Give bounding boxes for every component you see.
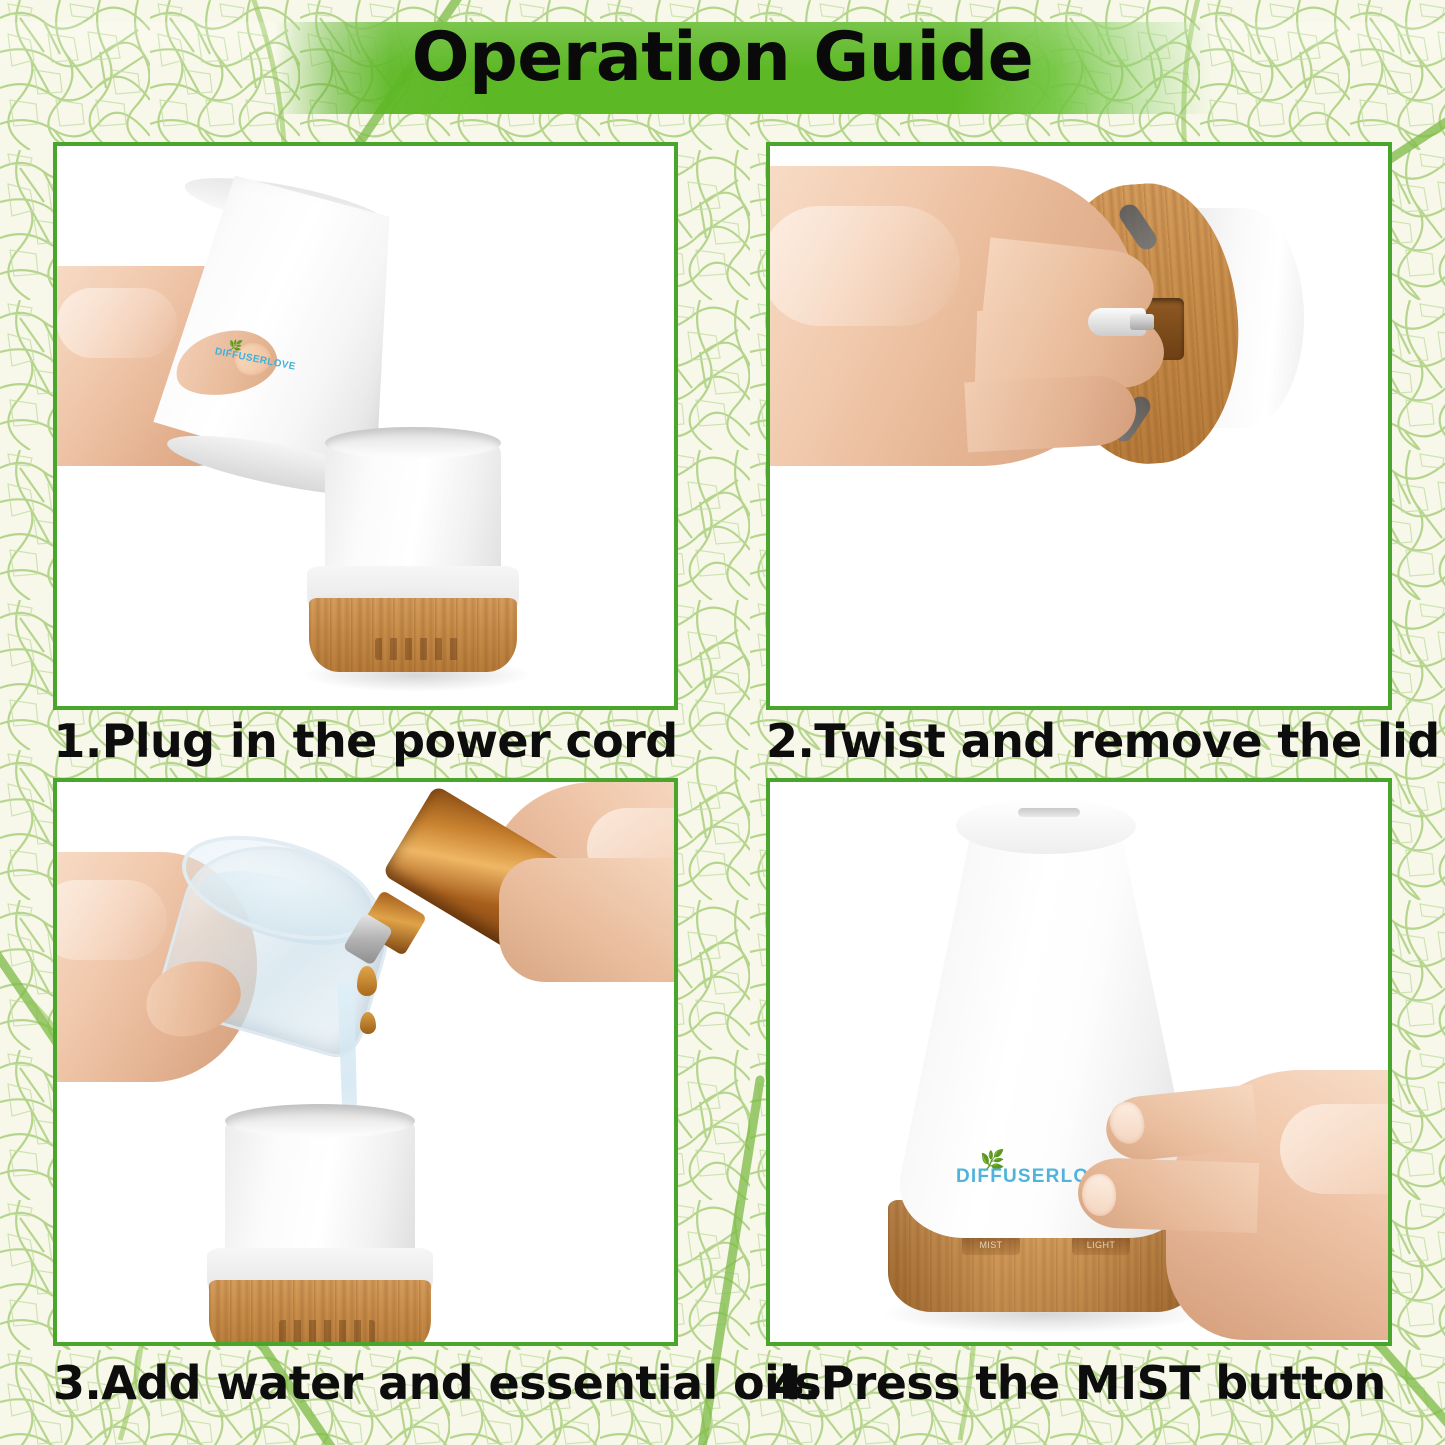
vent-slots-icon [375, 638, 465, 660]
reservoir-opening-icon [325, 427, 501, 459]
step-2-photo [770, 146, 1388, 706]
step-4-photo: MIST LIGHT 🌿 DIFFUSERLOVE [770, 782, 1388, 1342]
step-1-photo: 🌿 DIFFUSERLOVE [57, 146, 674, 706]
step-4-caption: 4.Press the MIST button [766, 1360, 1392, 1406]
plug-pin-icon [1130, 314, 1154, 330]
step-3-photo [57, 782, 674, 1342]
oil-drop-icon [357, 966, 377, 996]
wood-base-icon [309, 598, 517, 672]
page-title: Operation Guide [0, 24, 1445, 92]
step-panel-4: MIST LIGHT 🌿 DIFFUSERLOVE [766, 778, 1392, 1346]
mist-outlet-icon [1018, 808, 1080, 817]
step-panel-3 [53, 778, 678, 1346]
step-panel-2 [766, 142, 1392, 710]
light-button-icon[interactable]: LIGHT [1072, 1236, 1130, 1255]
step-panel-1: 🌿 DIFFUSERLOVE [53, 142, 678, 710]
step-1-caption: 1.Plug in the power cord [53, 718, 678, 764]
finger-icon [964, 374, 1137, 453]
oil-drop-icon [360, 1012, 376, 1034]
mist-button-icon[interactable]: MIST [962, 1236, 1020, 1255]
step-3-caption: 3.Add water and essential oils [53, 1360, 678, 1406]
operation-guide-page: Operation Guide 🌿 DIFFUSERLOVE 1.Plug i [0, 0, 1445, 1445]
vent-slots-icon [279, 1320, 375, 1344]
diffuser-top-cap [956, 798, 1136, 854]
step-2-caption: 2.Twist and remove the lid [766, 718, 1392, 764]
reservoir-opening-icon [225, 1104, 415, 1138]
fingers-icon [499, 858, 678, 982]
